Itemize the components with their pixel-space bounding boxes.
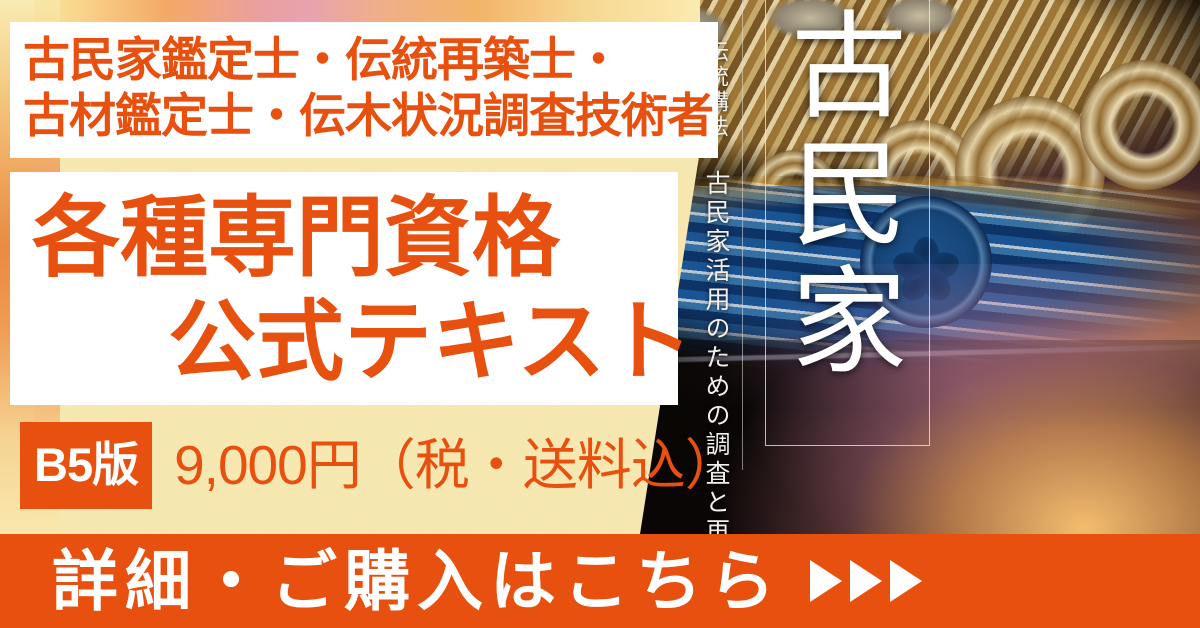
cover-title-char: 家 [775, 261, 923, 389]
cover-rule-line [742, 0, 743, 470]
triangle-right-icon [850, 560, 882, 602]
cta-bar[interactable]: 詳細・ご購入はこちら [0, 534, 1200, 628]
cta-label: 詳細・ご購入はこちら [52, 548, 782, 614]
cover-title-char: 古 [775, 6, 923, 134]
cta-arrows [810, 560, 922, 602]
triangle-right-icon [810, 560, 842, 602]
qualifications-card: 古民家鑑定士・伝統再築士・ 古材鑑定士・伝木状況調査技術者 [10, 22, 718, 158]
price-row: B5版 9,000円（税・送料込） [20, 422, 739, 509]
headline-line-1: 各種専門資格 [10, 172, 678, 290]
promotional-banner[interactable]: 古 民 家 伝統構法 古民家活用のための調査と再生の 古民家鑑定士・伝統再築士・… [0, 0, 1200, 628]
triangle-right-icon [890, 560, 922, 602]
price-text: 9,000円（税・送料込） [174, 438, 739, 493]
cover-title: 古 民 家 [775, 6, 923, 389]
cover-title-char: 民 [775, 134, 923, 262]
size-badge: B5版 [20, 422, 152, 509]
carving-swirl [1080, 60, 1200, 190]
qualifications-line-2: 古材鑑定士・伝木状況調査技術者 [10, 88, 718, 144]
qualifications-line-1: 古民家鑑定士・伝統再築士・ [10, 22, 718, 88]
headline-card: 各種専門資格 公式テキスト [10, 172, 678, 405]
headline-line-2: 公式テキスト [10, 290, 678, 394]
